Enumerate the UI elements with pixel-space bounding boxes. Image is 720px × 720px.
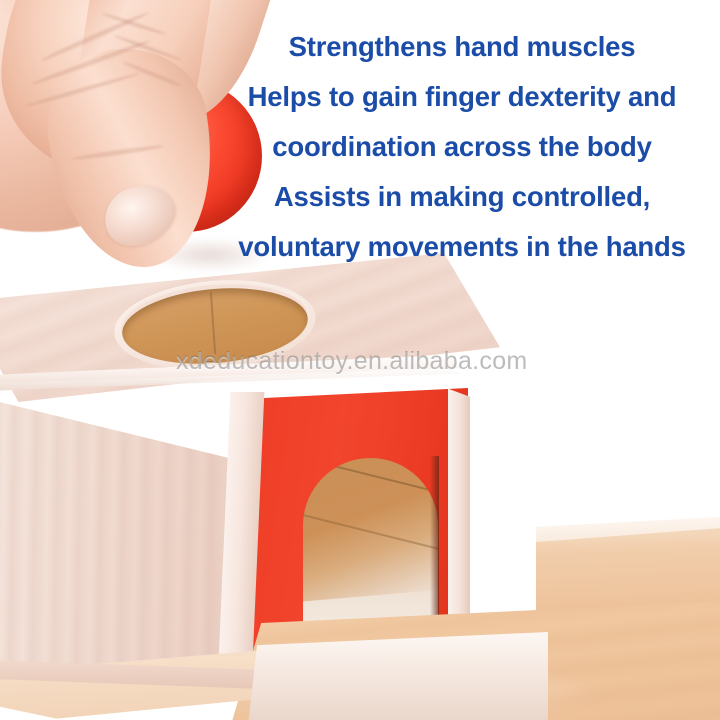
tray-front-rail <box>248 632 548 720</box>
marketing-copy-block: Strengthens hand muscles Helps to gain f… <box>210 22 714 272</box>
copy-line-2: Helps to gain finger dexterity and <box>210 72 714 122</box>
copy-line-3: coordination across the body <box>210 122 714 172</box>
arch-opening <box>303 458 438 642</box>
copy-line-4: Assists in making controlled, <box>210 172 714 222</box>
product-listing-image: xdeducationtoy.en.alibaba.com Strengthen… <box>0 0 720 720</box>
arch-back-seam-2 <box>303 513 438 553</box>
copy-line-1: Strengthens hand muscles <box>210 22 714 72</box>
copy-line-5: voluntary movements in the hands <box>210 222 714 272</box>
